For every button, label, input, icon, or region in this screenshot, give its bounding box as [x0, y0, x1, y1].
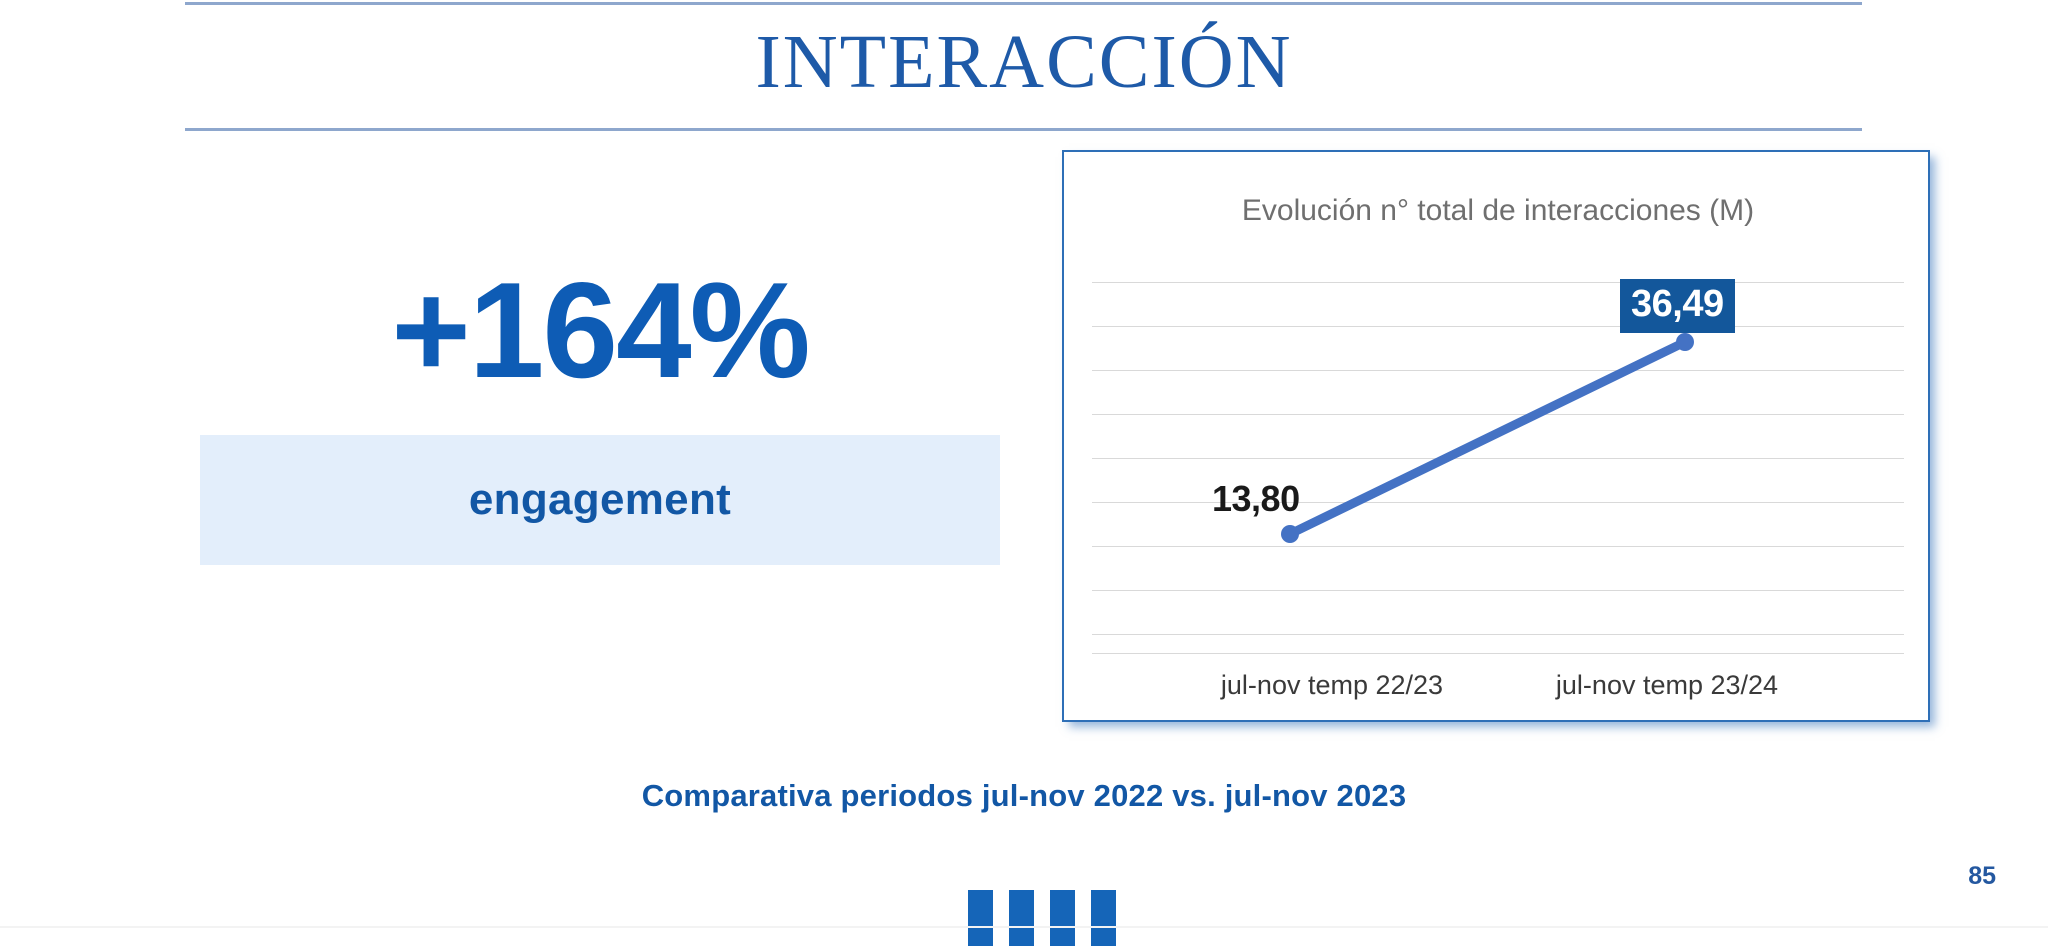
logo-bar [1050, 890, 1075, 946]
logo-bar [1091, 890, 1116, 946]
data-label-1: 36,49 [1620, 279, 1735, 333]
x-axis-tick-label-1: jul-nov temp 23/24 [1517, 670, 1817, 701]
chart-card: Evolución n° total de interacciones (M) … [1062, 150, 1930, 722]
x-axis-tick-label-0: jul-nov temp 22/23 [1182, 670, 1482, 701]
stat-band: engagement [200, 435, 1000, 565]
stat-label: engagement [200, 435, 1000, 565]
page-title: INTERACCIÓN [0, 18, 2048, 106]
data-point-marker [1676, 333, 1694, 351]
page-number: 85 [1968, 862, 1996, 891]
header-rule-top [185, 2, 1862, 5]
header-rule-bottom [185, 128, 1862, 131]
footer-logo-icon [968, 890, 1116, 946]
logo-bar [1009, 890, 1034, 946]
data-label-0: 13,80 [1212, 478, 1300, 520]
stat-value: +164% [200, 255, 1000, 405]
chart-line-series [1092, 282, 1904, 652]
chart-title: Evolución n° total de interacciones (M) [1064, 194, 1932, 228]
data-point-marker [1281, 525, 1299, 543]
footer-divider [0, 926, 2048, 928]
logo-bar [968, 890, 993, 946]
chart-plot-area: 13,80 36,49 [1092, 282, 1904, 652]
slide-caption: Comparativa periodos jul-nov 2022 vs. ju… [0, 778, 2048, 814]
slide-canvas: INTERACCIÓN +164% engagement Evolución n… [0, 0, 2048, 946]
x-axis-line [1092, 653, 1904, 654]
